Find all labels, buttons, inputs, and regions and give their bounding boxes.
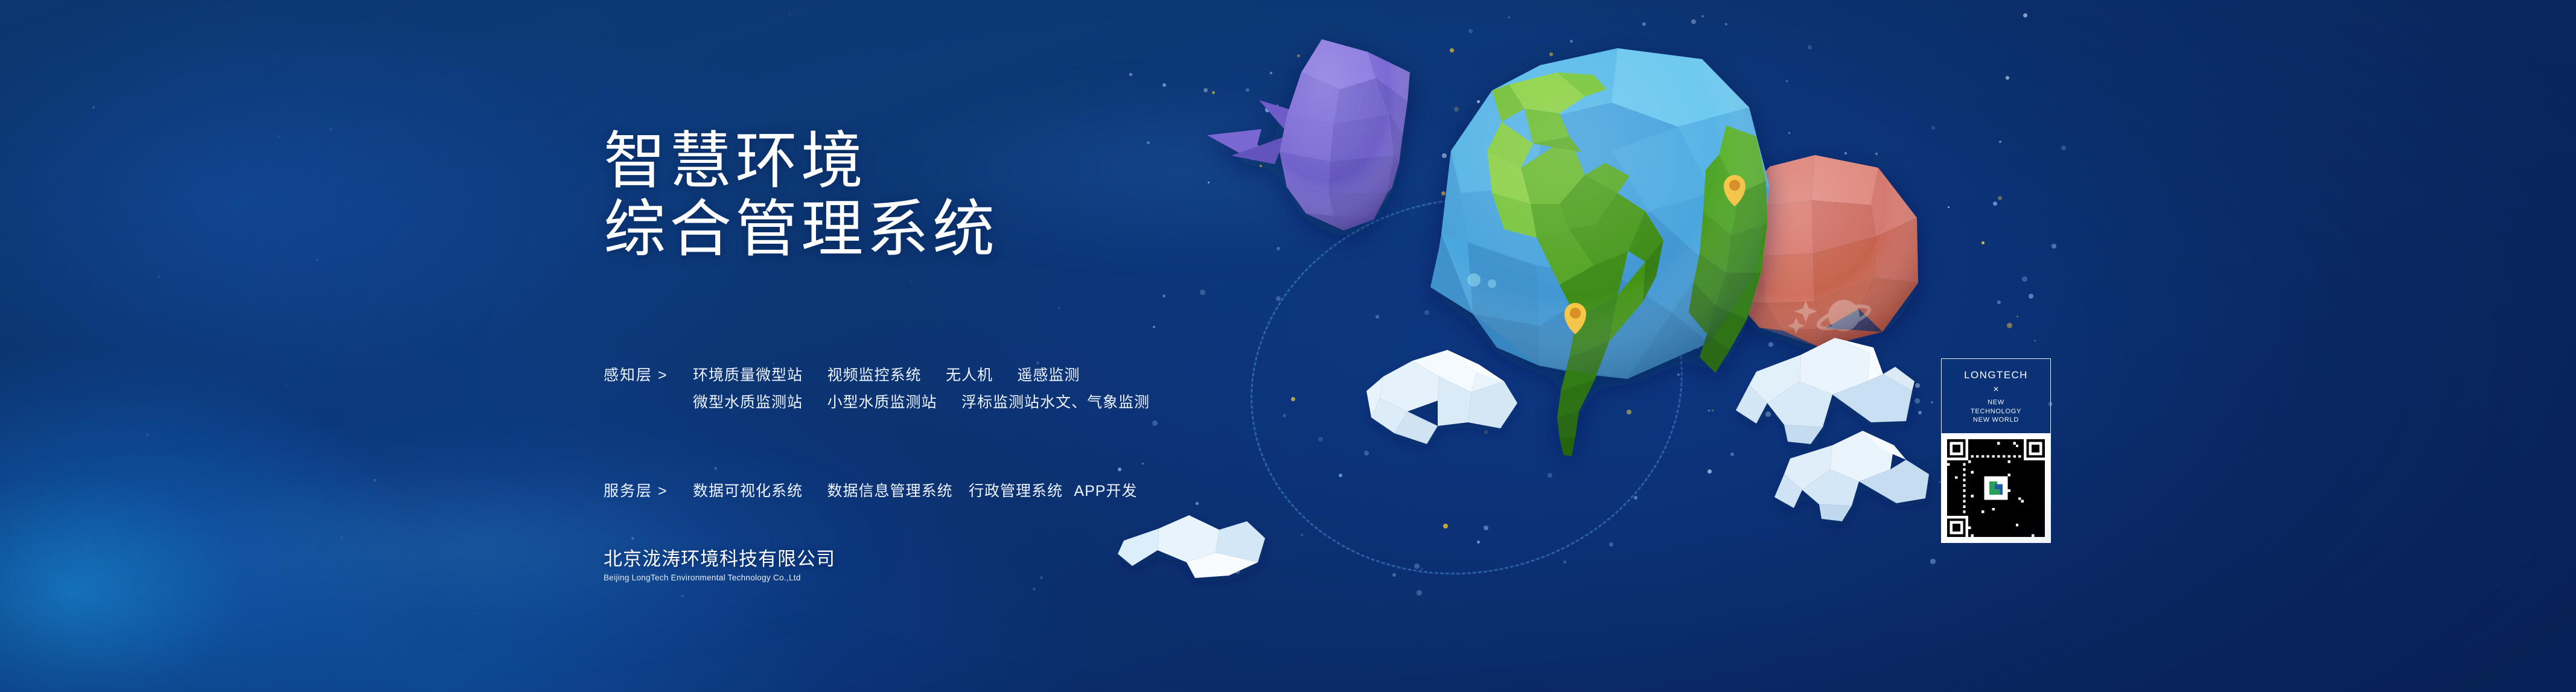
star-icon: [2006, 76, 2009, 80]
star-icon: [340, 536, 343, 539]
star-icon: [788, 13, 790, 15]
layer-item[interactable]: 无人机: [946, 367, 993, 384]
star-icon: [1392, 573, 1396, 577]
star-icon: [1993, 202, 1997, 206]
cloud-right-lower: [1774, 431, 1929, 521]
tagline-line3: NEW WORLD: [1946, 416, 2045, 425]
layer-item[interactable]: 浮标监测站: [961, 394, 1040, 411]
star-icon: [911, 282, 913, 284]
star-icon: [2034, 340, 2036, 341]
layer-item[interactable]: 小型水质监测站: [827, 394, 937, 411]
page-title-line1: 智慧环境: [604, 127, 998, 195]
star-icon: [681, 595, 684, 597]
star-icon: [1421, 568, 1423, 570]
star-icon: [2016, 316, 2018, 317]
star-icon: [277, 135, 280, 138]
star-icon: [2052, 244, 2056, 249]
banner-root: 智慧环境 综合管理系统 感知层 > 环境质量微型站 视频监控系统 无人机 遥感监…: [0, 0, 2576, 692]
brand-name: LONGTECH: [1946, 369, 2045, 381]
qr-card-header: LONGTECH × NEW TECHNOLOGY NEW WORLD: [1941, 358, 2051, 433]
page-title-line2: 综合管理系统: [604, 195, 998, 263]
layer-row: 微型水质监测站 小型水质监测站 浮标监测站: [693, 389, 1040, 416]
star-icon: [2029, 294, 2033, 299]
layer-group-service: 服务层 > 数据可视化系统 数据信息管理系统 行政管理系统 APP开发: [604, 478, 1176, 505]
layer-item[interactable]: 微型水质监测站: [693, 394, 803, 411]
cloud-right-upper: [1736, 338, 1914, 444]
cloud-left: [1366, 350, 1517, 444]
hero-text-block: 智慧环境 综合管理系统 感知层 > 环境质量微型站 视频监控系统 无人机 遥感监…: [604, 127, 998, 263]
star-icon: [1142, 463, 1144, 465]
star-icon: [2061, 145, 2066, 150]
cloud-bottom: [1118, 515, 1265, 578]
star-icon: [1147, 141, 1150, 144]
layer-group-perception: 感知层 > 环境质量微型站 视频监控系统 无人机 遥感监测 微型水质监测站 小型…: [604, 362, 1176, 416]
qr-panel[interactable]: [1941, 433, 2051, 543]
layer-item[interactable]: 遥感监测: [1017, 367, 1080, 384]
star-icon: [1162, 83, 1166, 87]
layer-item[interactable]: 数据可视化系统: [693, 483, 803, 500]
star-icon: [1118, 468, 1121, 471]
layer-label-service: 服务层 >: [604, 478, 693, 505]
layer-item[interactable]: 环境质量微型站: [693, 367, 803, 384]
qr-card[interactable]: LONGTECH × NEW TECHNOLOGY NEW WORLD: [1941, 358, 2051, 543]
layer-label-perception: 感知层 >: [604, 362, 693, 389]
star-icon: [1040, 576, 1043, 579]
star-icon: [1162, 294, 1165, 297]
star-icon: [2022, 276, 2027, 282]
qr-code-icon[interactable]: [1947, 439, 2045, 537]
star-icon: [329, 128, 332, 131]
space-illustration: [1195, 12, 1992, 567]
star-icon: [1998, 196, 2002, 200]
star-icon: [1129, 73, 1132, 76]
layer-row: 数据可视化系统 数据信息管理系统 行政管理系统 APP开发: [693, 478, 1137, 505]
star-icon: [631, 537, 634, 540]
star-icon: [374, 479, 376, 481]
star-icon: [1033, 588, 1036, 591]
star-icon: [1997, 300, 2001, 304]
star-icon: [92, 106, 95, 109]
background-glow-left: [0, 386, 1026, 692]
layer-items-perception: 环境质量微型站 视频监控系统 无人机 遥感监测 微型水质监测站 小型水质监测站 …: [693, 362, 1176, 416]
separator-x: ×: [1946, 381, 2045, 398]
star-icon: [1999, 141, 2001, 143]
layer-row: 水文、气象监测: [1040, 389, 1150, 416]
tagline-line2: TECHNOLOGY: [1946, 407, 2045, 416]
star-icon: [145, 433, 149, 437]
layer-items-service: 数据可视化系统 数据信息管理系统 行政管理系统 APP开发: [693, 478, 1176, 505]
star-icon: [1058, 306, 1060, 309]
layer-item[interactable]: 数据信息管理系统: [827, 483, 952, 500]
star-icon: [1153, 326, 1155, 328]
star-icon: [1152, 421, 1158, 426]
star-icon: [714, 467, 717, 470]
star-icon: [2007, 323, 2012, 328]
layer-item[interactable]: 行政管理系统: [969, 483, 1063, 500]
star-icon: [316, 259, 318, 261]
star-icon: [2023, 13, 2027, 17]
star-icon: [158, 276, 160, 278]
company-block: 北京泷涛环境科技有限公司 Beijing LongTech Environmen…: [604, 548, 835, 583]
company-name-en: Beijing LongTech Environmental Technolog…: [604, 572, 835, 583]
star-icon: [477, 613, 478, 614]
purple-planet: [1207, 39, 1410, 230]
layer-item[interactable]: APP开发: [1074, 483, 1137, 500]
layer-row: 环境质量微型站 视频监控系统 无人机 遥感监测: [693, 362, 1080, 389]
layer-item[interactable]: 水文、气象监测: [1040, 394, 1150, 411]
company-name-cn: 北京泷涛环境科技有限公司: [604, 548, 835, 571]
tagline-line1: NEW: [1946, 398, 2045, 407]
star-icon: [285, 385, 287, 387]
star-icon: [1417, 590, 1422, 595]
layer-item[interactable]: 视频监控系统: [827, 367, 921, 384]
